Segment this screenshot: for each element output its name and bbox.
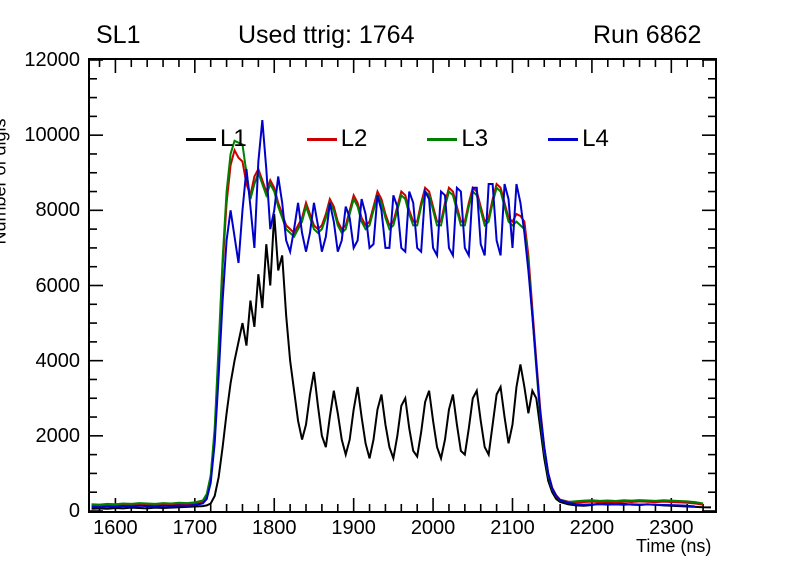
legend-label: L3: [461, 127, 488, 151]
x-tick-label: 1900: [314, 517, 394, 540]
x-tick-label: 2000: [393, 517, 473, 540]
y-tick-label: 6000: [2, 275, 80, 298]
x-tick-label: 1700: [155, 517, 235, 540]
series-line-l4: [92, 120, 696, 507]
legend-item-l1[interactable]: L1: [186, 127, 247, 151]
legend-swatch-l4-icon: [548, 138, 578, 141]
series-line-l3: [92, 141, 704, 505]
x-tick-label: 1800: [234, 517, 314, 540]
run-label: Run 6862: [593, 21, 701, 50]
plot-frame: L1L2L3L4: [88, 58, 717, 513]
y-tick-label: 4000: [2, 350, 80, 373]
x-tick-label: 2300: [631, 517, 711, 540]
legend-item-l2[interactable]: L2: [307, 127, 368, 151]
x-tick-label: 1600: [75, 517, 155, 540]
y-tick-label: 12000: [2, 49, 80, 72]
legend-label: L2: [341, 127, 368, 151]
y-tick-label: 8000: [2, 199, 80, 222]
legend-label: L1: [220, 127, 247, 151]
series-line-l1: [92, 214, 711, 509]
x-tick-label: 2100: [472, 517, 552, 540]
legend: L1L2L3L4: [186, 122, 686, 156]
y-tick-label: 2000: [2, 425, 80, 448]
legend-swatch-l2-icon: [307, 138, 337, 141]
legend-label: L4: [582, 127, 609, 151]
legend-item-l4[interactable]: L4: [548, 127, 609, 151]
x-tick-label: 2200: [552, 517, 632, 540]
y-tick-label: 0: [2, 500, 80, 523]
sl-label: SL1: [96, 21, 140, 50]
legend-swatch-l3-icon: [427, 138, 457, 141]
y-tick-label: 10000: [2, 124, 80, 147]
legend-item-l3[interactable]: L3: [427, 127, 488, 151]
legend-swatch-l1-icon: [186, 138, 216, 141]
chart-title: Used ttrig: 1764: [238, 21, 415, 50]
y-axis-title: Number of digis: [0, 82, 11, 282]
